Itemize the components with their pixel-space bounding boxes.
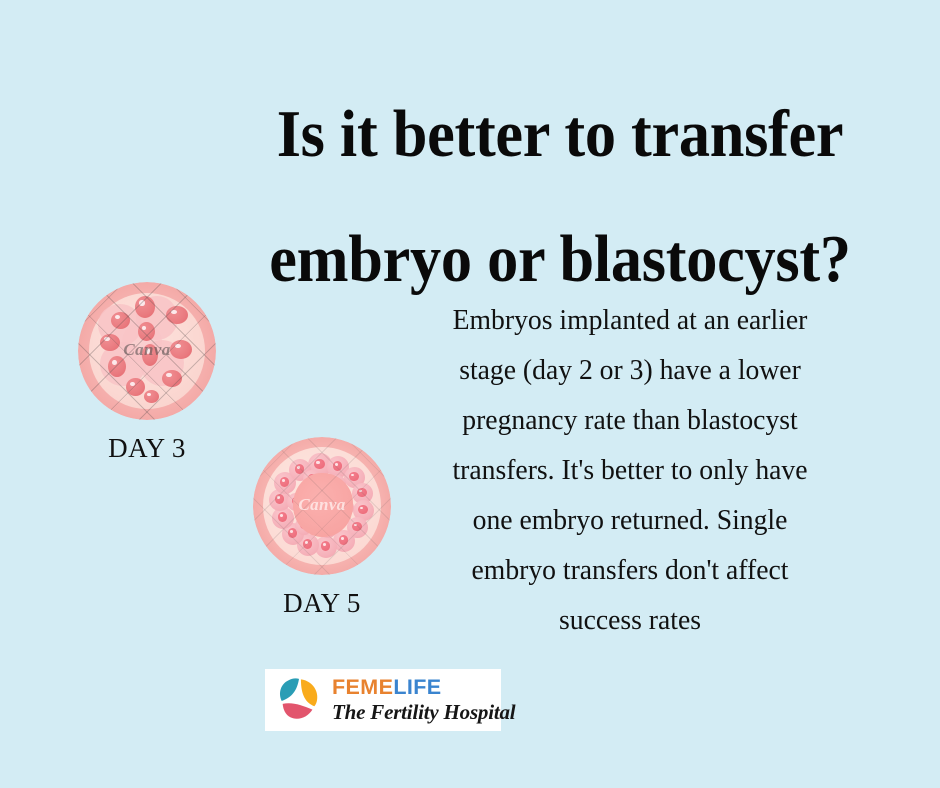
body-line: embryo transfers don't affect xyxy=(417,546,844,596)
embryo-illustration-day5: Canva xyxy=(253,437,391,575)
body-line: one embryo returned. Single xyxy=(417,496,844,546)
poster-canvas: Is it better to transfer embryo or blast… xyxy=(0,0,940,788)
day3-label: DAY 3 xyxy=(78,433,216,464)
femelife-pinwheel-icon xyxy=(275,676,323,724)
body-line: pregnancy rate than blastocyst xyxy=(417,396,844,446)
headline-line-1: Is it better to transfer xyxy=(221,72,900,197)
femelife-tagline: The Fertility Hospital xyxy=(332,702,515,723)
femelife-brand-name: FEMELIFE xyxy=(332,677,515,699)
femelife-logo: FEMELIFE The Fertility Hospital xyxy=(265,669,501,731)
body-line: stage (day 2 or 3) have a lower xyxy=(417,346,844,396)
body-line: success rates xyxy=(417,596,844,646)
body-line: Embryos implanted at an earlier xyxy=(417,296,844,346)
body-line: transfers. It's better to only have xyxy=(417,446,844,496)
embryo-illustration-day3: Canva xyxy=(78,282,216,420)
page-title: Is it better to transfer embryo or blast… xyxy=(195,72,925,322)
day5-blastocoel-cavity xyxy=(293,473,353,537)
femelife-logo-text: FEMELIFE The Fertility Hospital xyxy=(332,677,515,723)
brand-life: LIFE xyxy=(393,675,441,699)
day3-embryo-graphic: Canva xyxy=(78,282,216,420)
day5-blastocyst-graphic: Canva xyxy=(253,437,391,575)
brand-feme: FEME xyxy=(332,675,393,699)
day5-label: DAY 5 xyxy=(253,588,391,619)
body-paragraph: Embryos implanted at an earlier stage (d… xyxy=(410,296,850,646)
